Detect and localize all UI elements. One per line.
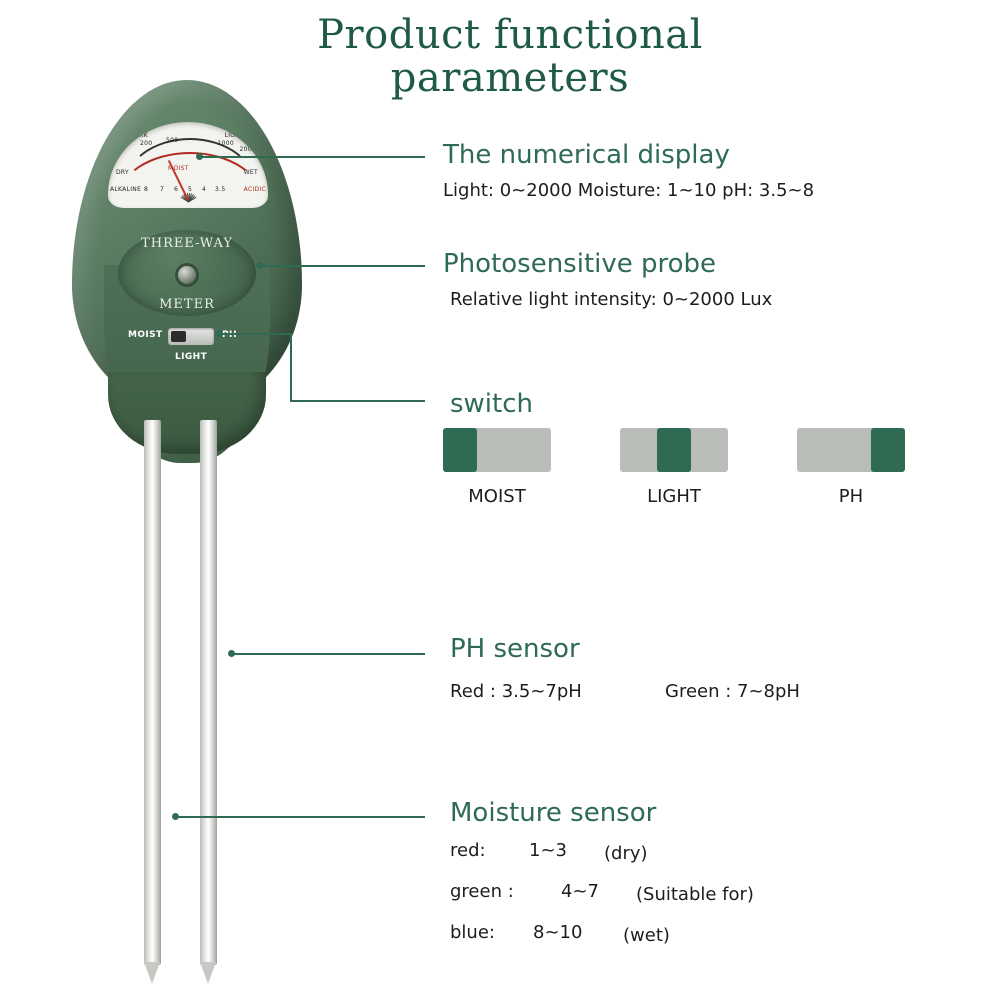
switch-example-moist[interactable]: [443, 428, 551, 472]
switch-caption-moist: MOIST: [443, 486, 551, 507]
probe-left-tip: [144, 962, 160, 984]
meter-logo-badge: THREE-WAY METER: [118, 230, 256, 316]
switch-knob[interactable]: [443, 428, 477, 472]
device-switch-label-light: LIGHT: [175, 352, 207, 362]
logo-text-bottom: METER: [118, 297, 256, 312]
logo-text-top: THREE-WAY: [118, 236, 256, 251]
gauge-scale-ph-5: 5: [188, 186, 192, 193]
leader-line-switch-c: [290, 400, 425, 402]
moisture-line-green-note: (Suitable for): [636, 884, 754, 905]
soil-meter-illustration: DARK LIGHT 0 200 500 1000 2000 DRY MOIST: [60, 80, 380, 980]
moisture-line-green-label: green :: [450, 881, 514, 902]
moisture-line-red-label: red:: [450, 840, 486, 861]
callout-sub-numerical-display: Light: 0~2000 Moisture: 1~10 pH: 3.5~8: [443, 180, 814, 201]
gauge-label-wet: WET: [244, 169, 258, 176]
probe-right: [200, 420, 217, 965]
device-switch[interactable]: [168, 328, 214, 345]
moisture-line-blue-note: (wet): [623, 925, 670, 946]
switch-knob[interactable]: [657, 428, 691, 472]
gauge-scale-ph-8: 8: [144, 186, 148, 193]
gauge-label-alkaline: ALKALINE: [110, 186, 141, 193]
gauge-scale-ph-7: 7: [160, 186, 164, 193]
moisture-line-blue-label: blue:: [450, 922, 495, 943]
callout-heading-photosensitive-probe: Photosensitive probe: [443, 249, 716, 279]
photosensitive-probe-dot: [178, 266, 196, 284]
leader-line-ph: [232, 653, 425, 655]
moisture-line-red-note: (dry): [604, 843, 648, 864]
gauge-label-acidic: ACIDIC: [244, 186, 266, 193]
gauge-scale-ph-35: 3.5: [215, 186, 225, 193]
callout-sub-ph-green: Green : 7~8pH: [665, 681, 800, 702]
switch-example-ph[interactable]: [797, 428, 905, 472]
switch-caption-light: LIGHT: [620, 486, 728, 507]
probe-left: [144, 420, 161, 965]
moisture-line-red-value: 1~3: [529, 840, 567, 861]
switch-caption-ph: PH: [797, 486, 905, 507]
gauge-scale-ph-4: 4: [202, 186, 206, 193]
leader-line-probe: [260, 265, 425, 267]
callout-heading-ph-sensor: PH sensor: [450, 634, 580, 664]
callout-heading-switch: switch: [450, 389, 533, 419]
diagram-canvas: Product functional parameters DARK LIGHT…: [0, 0, 1000, 1000]
gauge-display: DARK LIGHT 0 200 500 1000 2000 DRY MOIST: [108, 122, 268, 208]
callout-sub-ph-red: Red : 3.5~7pH: [450, 681, 582, 702]
gauge-label-dry: DRY: [116, 169, 129, 176]
device-switch-label-ph: PH: [222, 330, 237, 340]
device-switch-label-moist: MOIST: [128, 330, 163, 340]
leader-line-display: [200, 156, 425, 158]
switch-example-light[interactable]: [620, 428, 728, 472]
callout-heading-numerical-display: The numerical display: [443, 140, 730, 170]
meter-body-taper: [108, 372, 266, 454]
callout-heading-moisture-sensor: Moisture sensor: [450, 798, 656, 828]
moisture-line-blue-value: 8~10: [533, 922, 582, 943]
leader-line-switch-a: [220, 333, 290, 335]
moisture-line-green-value: 4~7: [561, 881, 599, 902]
switch-knob[interactable]: [871, 428, 905, 472]
callout-sub-photosensitive-probe: Relative light intensity: 0~2000 Lux: [450, 289, 772, 310]
leader-line-switch-b: [290, 333, 292, 401]
leader-line-moisture: [176, 816, 425, 818]
gauge-scale-ph-6: 6: [174, 186, 178, 193]
probe-right-tip: [200, 962, 216, 984]
